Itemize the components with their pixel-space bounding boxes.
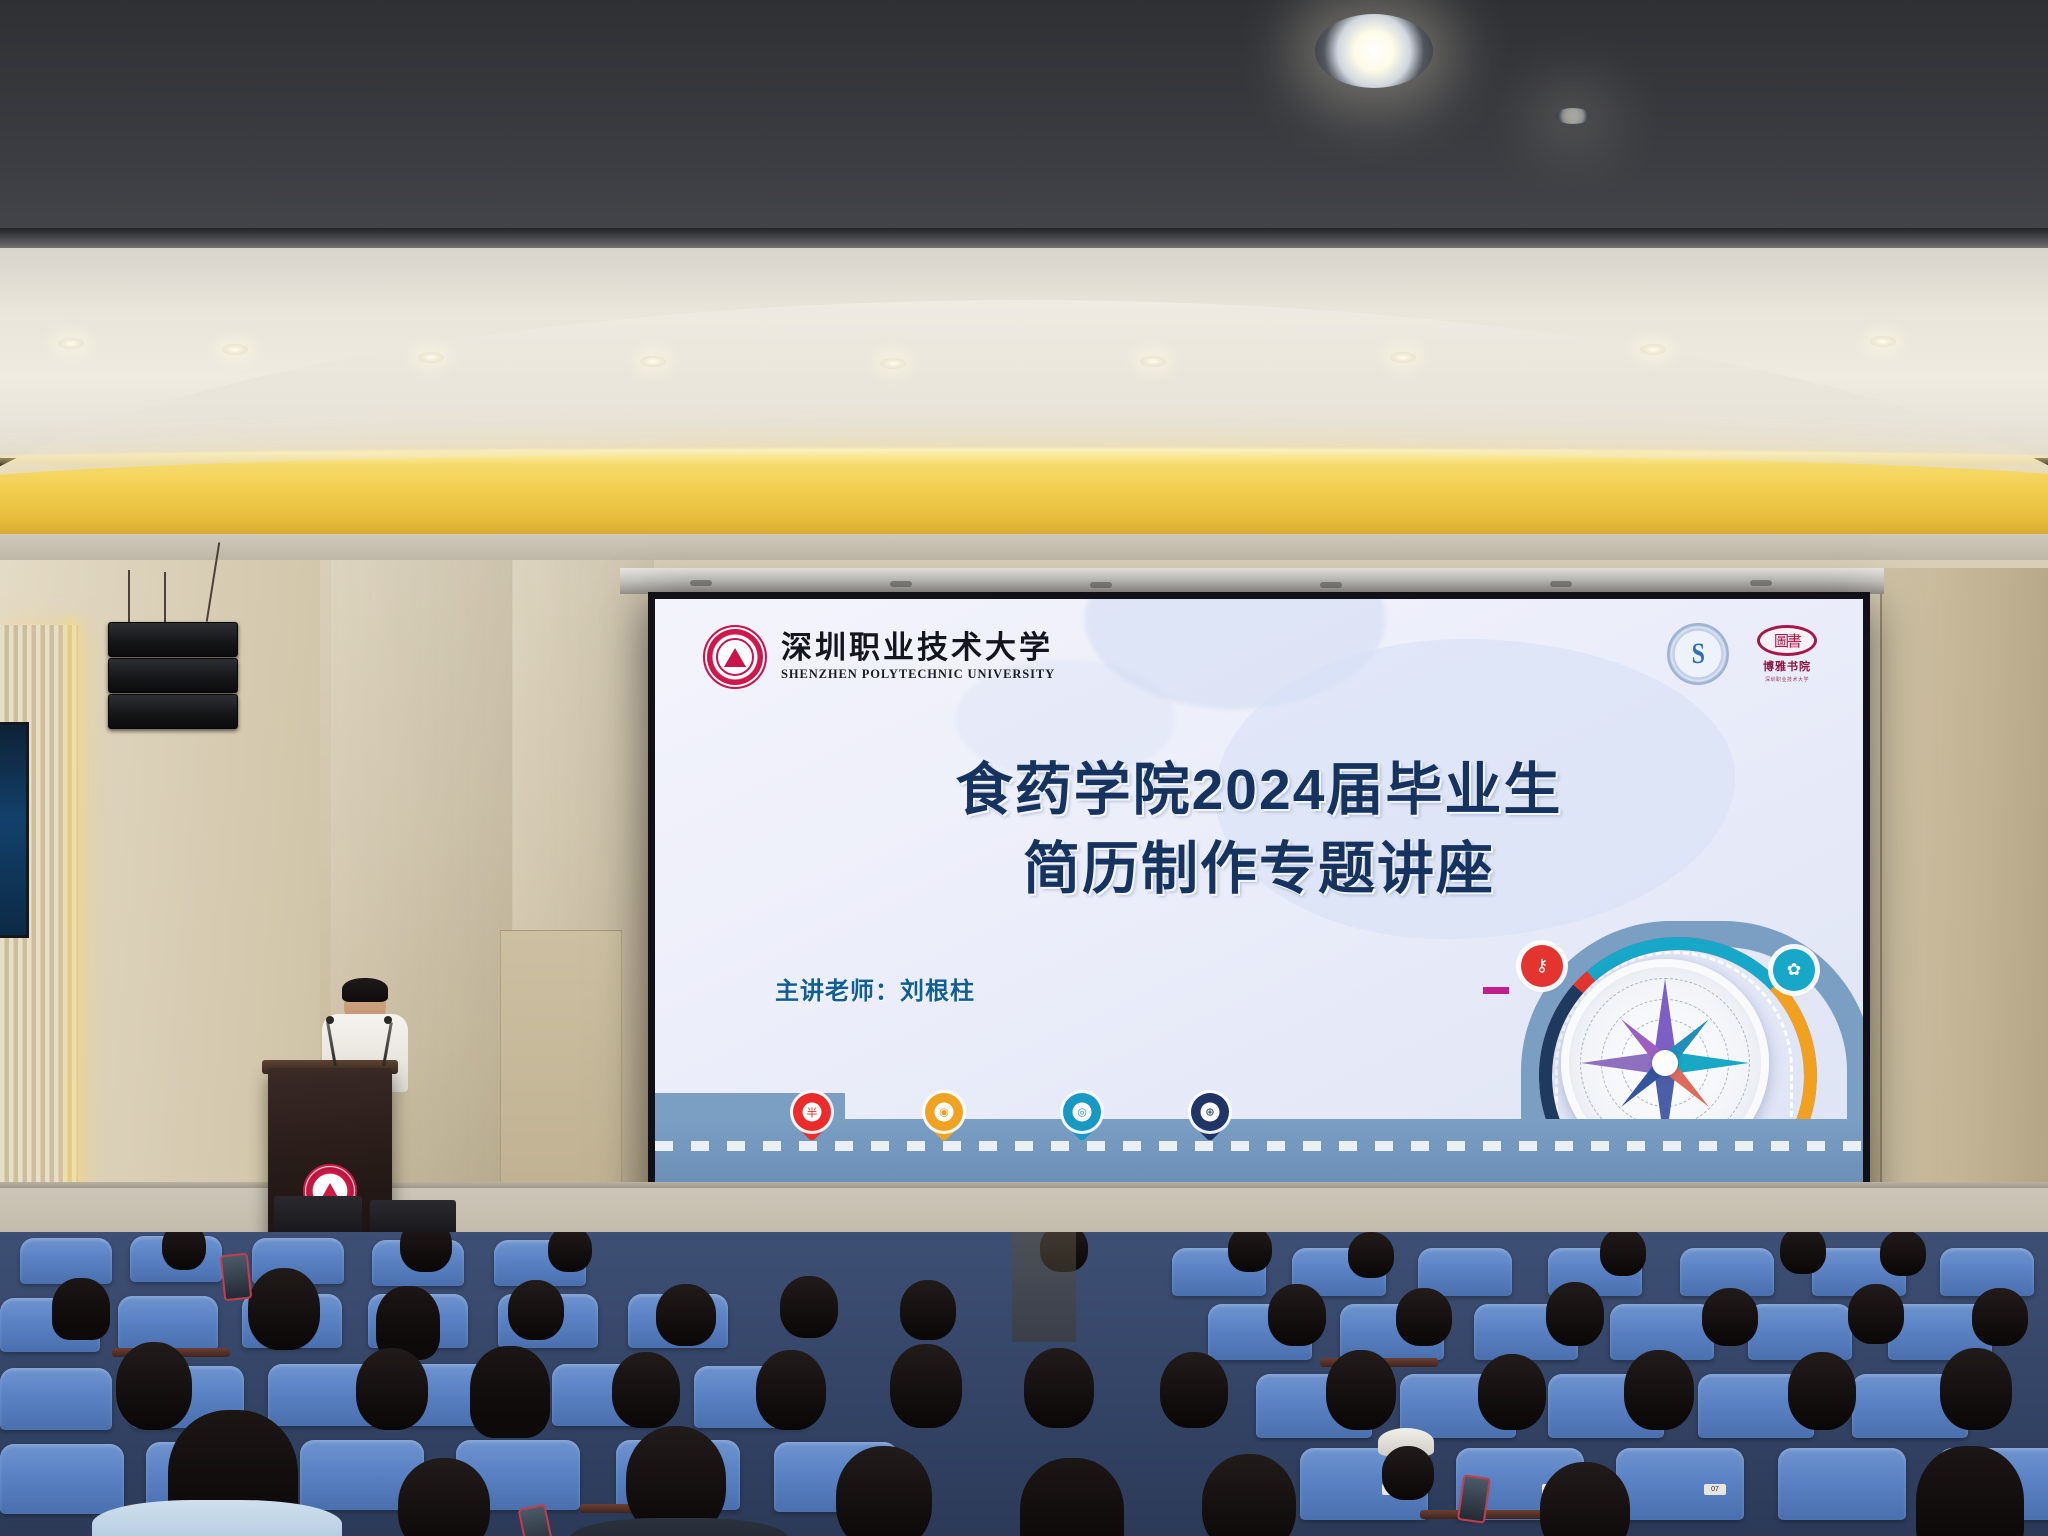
road-dashes <box>655 1141 1863 1151</box>
audience-head <box>1788 1352 1856 1430</box>
trim-dot <box>1320 582 1342 588</box>
speaker-box <box>108 694 238 729</box>
audience-head <box>836 1446 932 1536</box>
crest-triangle <box>724 648 746 667</box>
ceiling-spotlight <box>1555 108 1591 124</box>
seat[interactable] <box>1940 1248 2034 1296</box>
audience-head <box>1396 1288 1452 1346</box>
audience-shoulder <box>92 1500 342 1536</box>
ceiling-spotlight <box>1315 14 1433 88</box>
speaker-box <box>108 622 238 657</box>
soffit-downlight <box>418 352 444 363</box>
audience-head <box>248 1268 320 1350</box>
university-name-cn: 深圳职业技术大学 <box>781 632 1055 665</box>
audience-head <box>1202 1454 1296 1536</box>
audience-head <box>1916 1446 2024 1536</box>
audience-head <box>756 1350 826 1430</box>
slide-title-line-1: 食药学院2024届毕业生 <box>655 751 1863 830</box>
audience-head <box>1780 1232 1826 1274</box>
seat[interactable] <box>118 1296 218 1350</box>
compass-pin-glyph: ◎ <box>1073 1103 1092 1122</box>
audience-head <box>1848 1284 1904 1344</box>
slide-title: 食药学院2024届毕业生 简历制作专题讲座 <box>655 751 1863 908</box>
audience-head <box>1546 1282 1604 1346</box>
trim-dot <box>890 581 912 587</box>
audience-head <box>1880 1232 1926 1276</box>
audience-head <box>1702 1288 1758 1346</box>
soffit-downlight <box>1140 356 1166 367</box>
audience-head <box>470 1346 550 1438</box>
audience-head <box>780 1276 838 1338</box>
seat[interactable] <box>0 1444 124 1514</box>
audience-shoulder <box>570 1518 788 1536</box>
slide-university-header: 深圳职业技术大学 SHENZHEN POLYTECHNIC UNIVERSITY <box>703 625 1055 689</box>
gear-badge-icon[interactable]: ✿ <box>1773 949 1815 991</box>
audience-head <box>116 1342 192 1430</box>
presenter-hair <box>342 978 388 1002</box>
crest-inner-ring <box>716 638 754 676</box>
soffit-downlight <box>1870 336 1896 347</box>
cove-light-band <box>0 452 2048 544</box>
audience-head <box>900 1280 956 1340</box>
camera-pin-icon[interactable]: ◉ <box>925 1093 963 1143</box>
audience-head <box>1972 1288 2028 1346</box>
audience-head <box>398 1458 490 1536</box>
audience-head <box>1624 1350 1694 1430</box>
microphone-head <box>326 1016 334 1024</box>
led-presentation-screen[interactable]: 深圳职业技术大学 SHENZHEN POLYTECHNIC UNIVERSITY… <box>648 592 1870 1246</box>
side-information-screen[interactable] <box>0 722 29 938</box>
audience-head <box>1600 1232 1646 1276</box>
smartphone[interactable] <box>220 1253 253 1302</box>
trim-dot <box>1090 582 1112 588</box>
audience-head <box>1024 1348 1094 1428</box>
audience-head <box>508 1280 564 1340</box>
cove-light-glow <box>0 448 2048 464</box>
audience-head <box>1326 1350 1396 1430</box>
trim-dot <box>1750 580 1772 586</box>
audience-head <box>162 1232 206 1270</box>
audience-head <box>890 1344 962 1428</box>
seat[interactable] <box>20 1238 112 1284</box>
blue-emblem-logo: S <box>1667 623 1729 685</box>
audience-head <box>400 1232 452 1272</box>
red-seal-text: 博雅书院 <box>1763 658 1811 674</box>
microphone-head <box>384 1016 392 1024</box>
trim-dot <box>690 580 712 586</box>
red-seal-glyph: 圖書 <box>1757 625 1817 656</box>
key-badge-glyph: ⚷ <box>1536 956 1548 976</box>
audience-head <box>1160 1352 1228 1428</box>
trim-dot <box>1550 581 1572 587</box>
globe-pin-icon[interactable]: ⊕ <box>1191 1093 1229 1143</box>
audience-head <box>656 1284 716 1346</box>
ceiling <box>0 0 2048 250</box>
university-name-en: SHENZHEN POLYTECHNIC UNIVERSITY <box>781 667 1055 682</box>
audience-head <box>356 1348 428 1430</box>
speaker-box <box>108 658 238 693</box>
gear-badge-glyph: ✿ <box>1787 960 1801 980</box>
seat[interactable] <box>1778 1448 1906 1520</box>
speaker-suspension-wire <box>164 572 166 622</box>
signpost-pin-icon[interactable]: 半 <box>793 1093 831 1143</box>
seat[interactable] <box>1748 1304 1852 1360</box>
signpost-pin-glyph: 半 <box>803 1103 822 1122</box>
center-aisle <box>1012 1232 1076 1342</box>
soffit-downlight <box>1390 352 1416 363</box>
soffit-downlight <box>880 358 906 369</box>
screen-top-trim <box>620 568 1884 594</box>
presentation-slide: 深圳职业技术大学 SHENZHEN POLYTECHNIC UNIVERSITY… <box>655 599 1863 1239</box>
slide-title-line-2: 简历制作专题讲座 <box>655 830 1863 909</box>
auditorium-scene: 深圳职业技术大学 SHENZHEN POLYTECHNIC UNIVERSITY… <box>0 0 2048 1536</box>
red-seal-logo: 圖書 博雅书院 深圳职业技术大学 <box>1755 625 1819 683</box>
seat[interactable] <box>0 1368 112 1430</box>
audience-head <box>1478 1354 1546 1430</box>
audience-head <box>1020 1458 1124 1536</box>
right-wall-door[interactable] <box>1880 568 2048 1268</box>
seat-number-tag: 07 <box>1704 1484 1726 1495</box>
audience-head <box>1348 1232 1394 1278</box>
audience-area: 05 06 07 <box>0 1232 2048 1536</box>
audience-head <box>1940 1348 2012 1430</box>
university-crest-icon <box>703 625 767 689</box>
soffit-downlight <box>1640 344 1666 355</box>
audience-head <box>1382 1446 1434 1500</box>
red-seal-subtext: 深圳职业技术大学 <box>1765 676 1809 683</box>
audience-head <box>612 1352 680 1428</box>
audience-head <box>52 1278 110 1340</box>
audience-head <box>548 1232 592 1272</box>
globe-pin-glyph: ⊕ <box>1201 1103 1220 1122</box>
blue-emblem-glyph: S <box>1691 637 1704 671</box>
slide-presenter-label: 主讲老师：刘根柱 <box>775 971 975 1006</box>
line-array-speaker <box>108 620 236 732</box>
compass-pin-icon[interactable]: ◎ <box>1063 1093 1101 1143</box>
audience-head <box>1268 1284 1326 1346</box>
camera-pin-glyph: ◉ <box>935 1103 954 1122</box>
soffit-downlight <box>222 344 248 355</box>
slide-secondary-logos: S 圖書 博雅书院 深圳职业技术大学 <box>1667 623 1819 685</box>
soffit-downlight <box>640 356 666 367</box>
key-badge-icon[interactable]: ⚷ <box>1521 945 1563 987</box>
soffit-downlight <box>58 338 84 349</box>
speaker-suspension-wire <box>128 570 130 622</box>
audience-head <box>1228 1232 1272 1272</box>
slat-panel-glow <box>66 620 84 1210</box>
seat-armrest <box>1420 1510 1560 1519</box>
compass-center-hub <box>1652 1050 1678 1076</box>
